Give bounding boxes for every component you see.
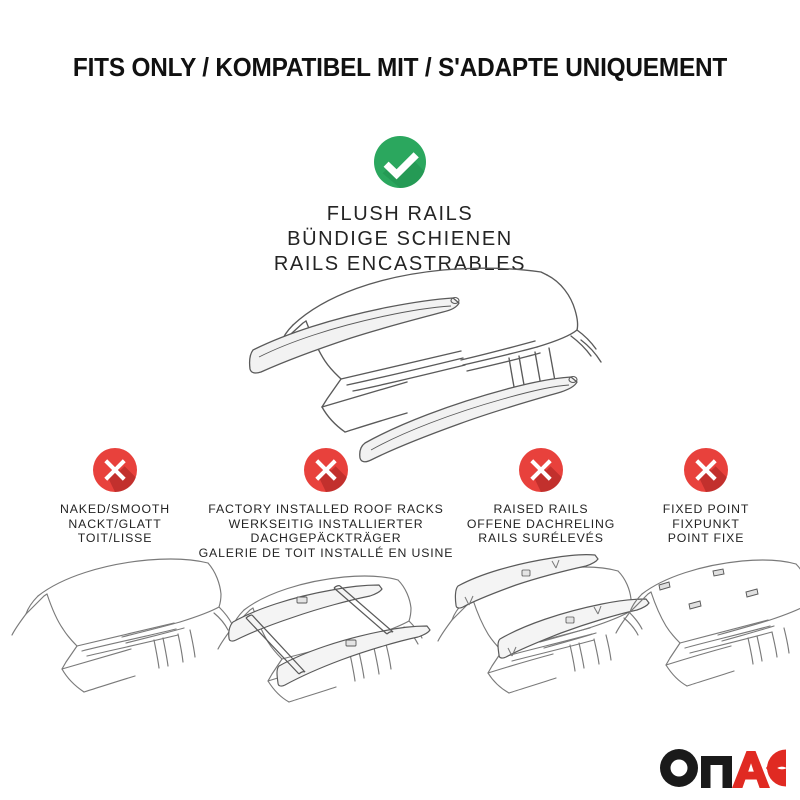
approved-label-en: FLUSH RAILS	[0, 202, 800, 227]
x-circle-icon	[304, 448, 348, 492]
rejected-item-fixed-point: FIXED POINT FIXPUNKT POINT FIXE	[612, 448, 800, 692]
check-circle-icon	[374, 136, 426, 188]
fixed-point-pad	[659, 582, 670, 590]
x-circle-icon	[684, 448, 728, 492]
approved-fitment-block: FLUSH RAILS BÜNDIGE SCHIENEN RAILS ENCAS…	[0, 136, 800, 277]
label-line-de-2: DACHGEPÄCKTRÄGER	[186, 531, 466, 546]
fixed-point-roof-illustration	[612, 552, 800, 692]
rejected-labels-fixed-point: FIXED POINT FIXPUNKT POINT FIXE	[612, 502, 800, 546]
rejected-labels-factory-roof-racks: FACTORY INSTALLED ROOF RACKS WERKSEITIG …	[186, 502, 466, 560]
logo-letter-m	[701, 756, 732, 788]
rejected-item-factory-roof-racks: FACTORY INSTALLED ROOF RACKS WERKSEITIG …	[186, 448, 466, 701]
logo-letter-a	[732, 751, 770, 788]
approved-label-de: BÜNDIGE SCHIENEN	[0, 227, 800, 252]
label-line-en: FACTORY INSTALLED ROOF RACKS	[186, 502, 466, 517]
label-line-fr: GALERIE DE TOIT INSTALLÉ EN USINE	[186, 546, 466, 561]
x-circle-icon	[519, 448, 563, 492]
factory-roof-racks-illustration	[186, 566, 466, 701]
flush-rails-roof-illustration	[175, 262, 635, 447]
label-line-fr: POINT FIXE	[612, 531, 800, 546]
fitment-compatibility-infographic: FITS ONLY / KOMPATIBEL MIT / S'ADAPTE UN…	[0, 0, 800, 800]
label-line-de: FIXPUNKT	[612, 517, 800, 532]
rejected-fitment-row: NAKED/SMOOTH NACKT/GLATT TOIT/LISSE	[0, 448, 800, 788]
x-circle-icon	[93, 448, 137, 492]
fixed-point-pad	[713, 569, 724, 576]
label-line-de-1: WERKSEITIG INSTALLIERTER	[186, 517, 466, 532]
omac-logo	[660, 748, 786, 788]
fixed-point-pad	[689, 601, 701, 609]
page-title: FITS ONLY / KOMPATIBEL MIT / S'ADAPTE UN…	[18, 54, 782, 83]
label-line-en: FIXED POINT	[612, 502, 800, 517]
fixed-point-pad	[746, 589, 758, 597]
logo-letter-o	[660, 749, 698, 787]
logo-letter-c	[766, 750, 786, 787]
